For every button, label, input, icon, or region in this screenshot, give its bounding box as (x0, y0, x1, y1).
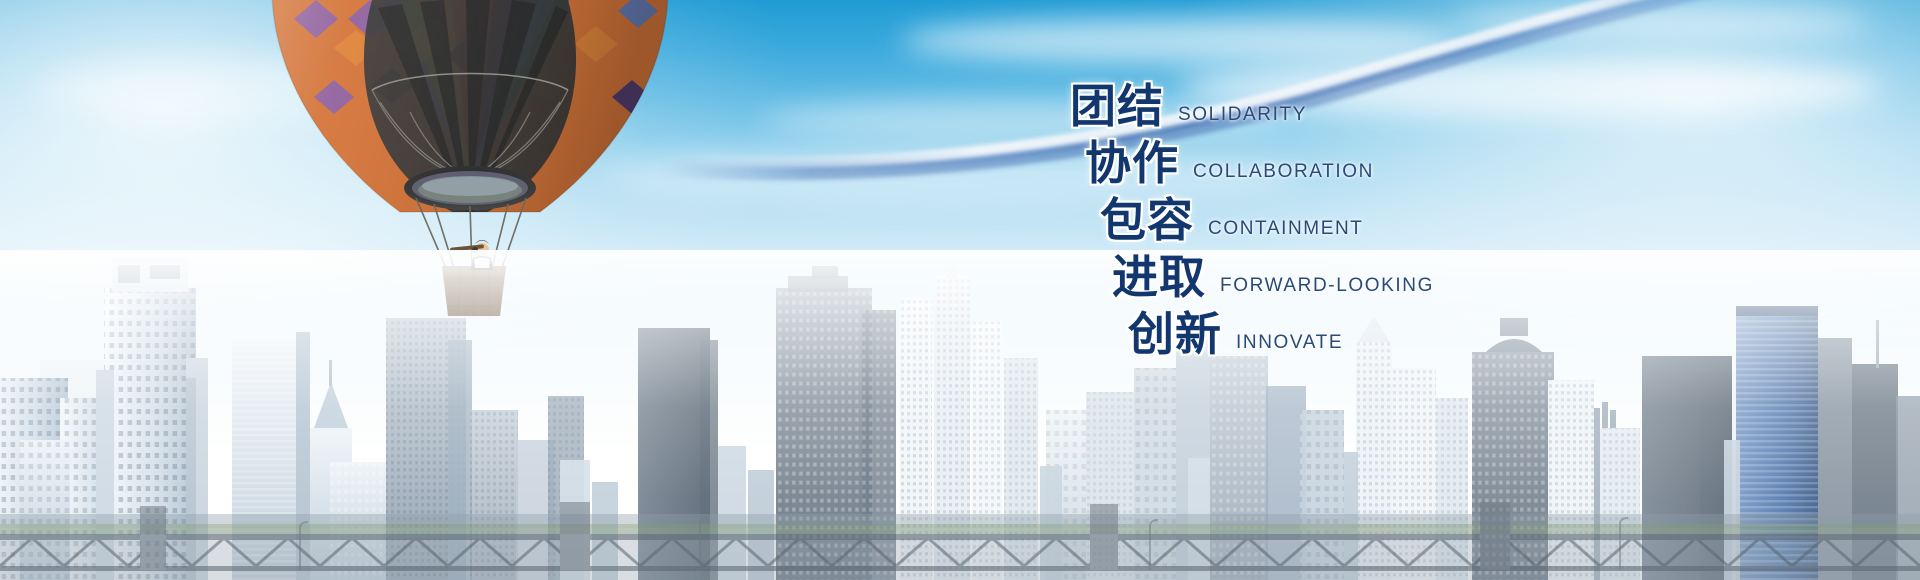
slogan-en-4: INNOVATE (1236, 332, 1343, 354)
culture-banner: 团结 SOLIDARITY 协作 COLLABORATION 包容 CONTAI… (0, 0, 1920, 580)
slogan-item-4[interactable]: 创新 INNOVATE (1128, 298, 1343, 364)
slogan-en-3: FORWARD-LOOKING (1220, 275, 1434, 297)
slogan-en-0: SOLIDARITY (1178, 104, 1307, 126)
slogan-en-1: COLLABORATION (1193, 161, 1374, 183)
cloud-wisp (900, 18, 1460, 64)
cloud-wisp (1450, 6, 1870, 40)
slogan-cn-4: 创新 (1128, 298, 1222, 364)
city-skyline (0, 110, 1920, 580)
slogan-en-2: CONTAINMENT (1208, 218, 1364, 240)
